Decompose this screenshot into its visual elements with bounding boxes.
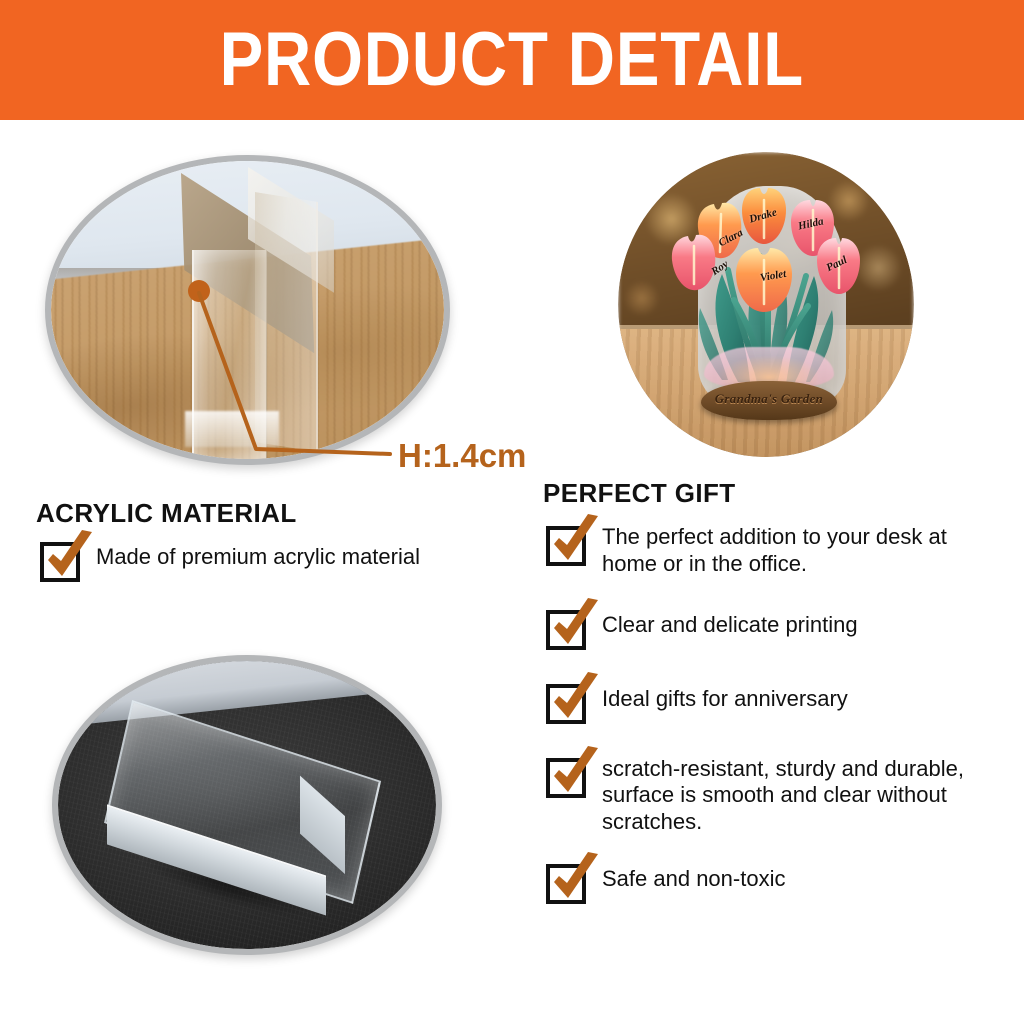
feature-list-perfect-gift: The perfect addition to your desk at hom… bbox=[546, 524, 998, 926]
tulip-scene: Roy Clara Drake Hilda Violet Paul Grandm… bbox=[618, 152, 914, 457]
checkbox-checked-icon bbox=[546, 758, 586, 798]
checkmark-icon bbox=[546, 598, 604, 654]
ornament-base: Grandma's Garden bbox=[701, 381, 837, 421]
photo-acrylic-block bbox=[52, 655, 442, 955]
section-heading-acrylic-material: ACRYLIC MATERIAL bbox=[36, 498, 297, 529]
checkbox-checked-icon bbox=[546, 526, 586, 566]
feature-text: Safe and non-toxic bbox=[602, 862, 785, 893]
feature-list-acrylic-material: Made of premium acrylic material bbox=[40, 540, 510, 604]
acrylic-block-scene bbox=[58, 661, 436, 949]
checkmark-icon bbox=[40, 530, 98, 586]
photo-tulip-ornament: Roy Clara Drake Hilda Violet Paul Grandm… bbox=[618, 152, 914, 457]
checkmark-icon bbox=[546, 746, 604, 802]
feature-text: scratch-resistant, sturdy and durable, s… bbox=[602, 756, 998, 836]
feature-text: Ideal gifts for anniversary bbox=[602, 682, 848, 713]
checkbox-checked-icon bbox=[40, 542, 80, 582]
base-engraving-text: Grandma's Garden bbox=[701, 391, 837, 407]
list-item: scratch-resistant, sturdy and durable, s… bbox=[546, 756, 998, 836]
list-item: Safe and non-toxic bbox=[546, 862, 998, 904]
checkbox-checked-icon bbox=[546, 610, 586, 650]
checkbox-checked-icon bbox=[546, 864, 586, 904]
checkbox-checked-icon bbox=[546, 684, 586, 724]
list-item: Clear and delicate printing bbox=[546, 608, 998, 650]
section-heading-perfect-gift: PERFECT GIFT bbox=[543, 478, 736, 509]
tulip-heads bbox=[672, 188, 860, 312]
feature-text: The perfect addition to your desk at hom… bbox=[602, 524, 998, 578]
feature-text: Clear and delicate printing bbox=[602, 608, 858, 639]
list-item: The perfect addition to your desk at hom… bbox=[546, 524, 998, 578]
product-detail-page: PRODUCT DETAIL H:1.4cm bbox=[0, 0, 1024, 1024]
thickness-label: H:1.4cm bbox=[398, 437, 526, 475]
list-item: Ideal gifts for anniversary bbox=[546, 682, 998, 724]
list-item: Made of premium acrylic material bbox=[40, 540, 510, 582]
checkmark-icon bbox=[546, 514, 604, 570]
checkmark-icon bbox=[546, 852, 604, 908]
checkmark-icon bbox=[546, 672, 604, 728]
feature-text: Made of premium acrylic material bbox=[96, 540, 420, 571]
